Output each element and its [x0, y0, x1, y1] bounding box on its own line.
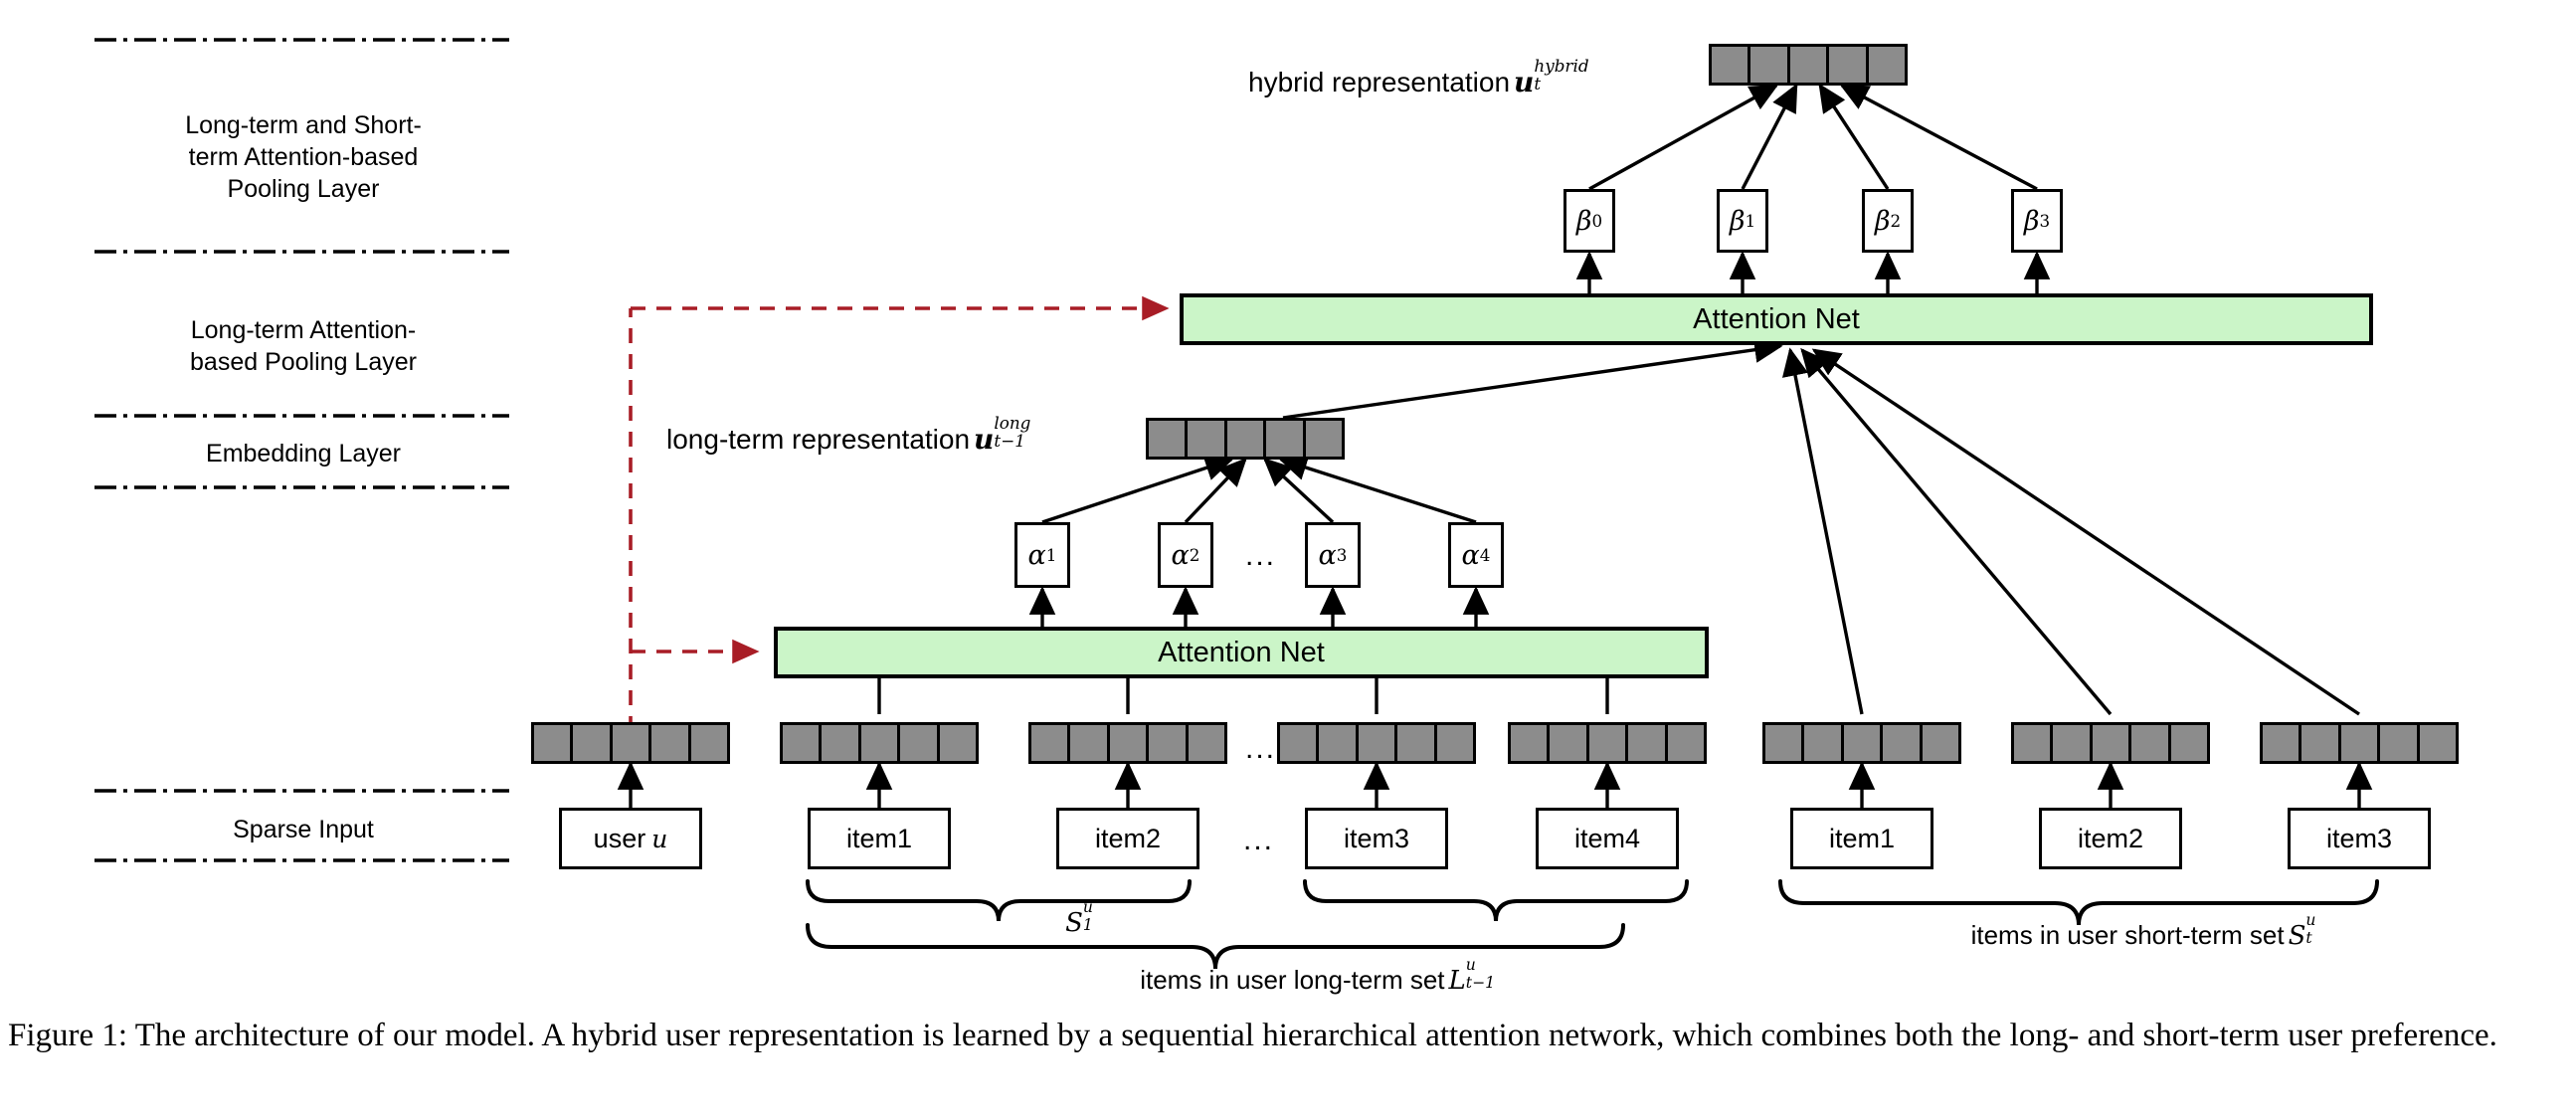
- hybrid-representation-vector: [1709, 44, 1908, 86]
- vector-cell: [1923, 725, 1958, 761]
- beta-box-1: β1: [1717, 189, 1768, 253]
- input-box-long-item2[interactable]: item2: [1056, 808, 1199, 869]
- vector-cell: [1070, 725, 1109, 761]
- embedding-vector-user: [531, 722, 730, 764]
- brace-s1-sup: u: [1083, 898, 1093, 916]
- vector-cell: [1359, 725, 1397, 761]
- vector-cell: [1227, 421, 1266, 457]
- hybrid-math-sub: t: [1534, 74, 1541, 93]
- attention-net-long[interactable]: Attention Net: [774, 627, 1709, 678]
- vector-cell: [2053, 725, 2092, 761]
- alpha-symbol: α: [1462, 540, 1480, 571]
- layer-label-long-short-attention-pooling: Long-term and Short- term Attention-base…: [80, 109, 527, 205]
- long-term-set-sup: u: [1466, 956, 1476, 974]
- input-box-long-item4[interactable]: item4: [1536, 808, 1679, 869]
- vector-cell: [1031, 725, 1070, 761]
- vector-cell: [1149, 725, 1188, 761]
- vector-cell: [1869, 47, 1905, 83]
- embedding-vector-long-item2: [1028, 722, 1227, 764]
- layer-label-embedding: Embedding Layer: [80, 438, 527, 469]
- long-term-set-sub: t−1: [1466, 974, 1495, 992]
- long-term-representation-math: ulongt−1: [974, 423, 994, 456]
- vector-cell: [534, 725, 573, 761]
- vector-cell: [2420, 725, 2456, 761]
- embedding-vector-long-item3: [1277, 722, 1476, 764]
- alpha-box-1: α1: [1014, 522, 1070, 588]
- long-term-set-base: L: [1449, 966, 1466, 996]
- vector-cell: [1149, 421, 1188, 457]
- vector-cell: [1765, 725, 1804, 761]
- brace-s1-sub: 1: [1083, 916, 1093, 934]
- vector-cell: [2171, 725, 2207, 761]
- hybrid-representation-math: uhybridt: [1514, 66, 1534, 98]
- vector-cell: [1628, 725, 1667, 761]
- alpha-box-3: α3: [1305, 522, 1361, 588]
- vector-cell: [1280, 725, 1319, 761]
- vector-cell: [1306, 421, 1342, 457]
- vector-cell: [900, 725, 939, 761]
- long-term-set-text: items in user long-term set: [1140, 965, 1444, 995]
- alpha-symbol: α: [1028, 540, 1046, 571]
- long-term-input-ellipsis: ...: [1243, 824, 1274, 857]
- vector-cell: [1319, 725, 1358, 761]
- beta-symbol: β: [1576, 206, 1592, 237]
- input-box-user[interactable]: useru: [559, 808, 702, 869]
- vector-cell: [1188, 421, 1226, 457]
- vector-cell: [2014, 725, 2053, 761]
- vector-cell: [822, 725, 860, 761]
- alpha-subscript: 1: [1046, 545, 1057, 565]
- vector-cell: [1883, 725, 1922, 761]
- long-term-representation-vector: [1146, 418, 1345, 460]
- vector-cell: [1668, 725, 1704, 761]
- input-box-short-item3[interactable]: item3: [2288, 808, 2431, 869]
- brace-label-s1: Su1: [1012, 907, 1132, 938]
- vector-cell: [1397, 725, 1436, 761]
- alpha-ellipsis: ...: [1245, 539, 1276, 573]
- vector-cell: [1750, 47, 1789, 83]
- vector-cell: [940, 725, 976, 761]
- vector-cell: [1589, 725, 1628, 761]
- vector-cell: [1437, 725, 1473, 761]
- long-math-sup: long: [994, 413, 1030, 433]
- alpha-symbol: α: [1172, 540, 1190, 571]
- alpha-box-4: α4: [1448, 522, 1504, 588]
- hybrid-math-base: u: [1514, 66, 1534, 98]
- vector-cell: [613, 725, 651, 761]
- vector-cell: [2093, 725, 2131, 761]
- short-term-set-text: items in user short-term set: [1971, 920, 2285, 950]
- alpha-symbol: α: [1319, 540, 1337, 571]
- long-term-representation-text: long-term representation: [666, 424, 970, 455]
- vector-cell: [783, 725, 822, 761]
- hybrid-representation-text: hybrid representation: [1248, 67, 1510, 97]
- input-box-short-item2[interactable]: item2: [2039, 808, 2182, 869]
- embedding-vector-short-item3: [2260, 722, 2459, 764]
- embedding-vector-short-item1: [1762, 722, 1961, 764]
- long-term-representation-label: long-term representationulongt−1: [666, 423, 994, 456]
- vector-cell: [1110, 725, 1149, 761]
- alpha-subscript: 3: [1337, 545, 1348, 565]
- vector-cell: [1804, 725, 1843, 761]
- beta-box-2: β2: [1862, 189, 1914, 253]
- input-user-math: u: [651, 825, 667, 853]
- layer-label-sparse-input: Sparse Input: [80, 814, 527, 845]
- beta-subscript: 0: [1591, 211, 1602, 231]
- vector-cell: [2263, 725, 2301, 761]
- input-user-label: user: [594, 824, 646, 854]
- input-box-long-item3[interactable]: item3: [1305, 808, 1448, 869]
- long-term-set-math: Lut−1: [1449, 966, 1466, 996]
- layer-label-long-attention-pooling: Long-term Attention- based Pooling Layer: [80, 314, 527, 378]
- embedding-vector-short-item2: [2011, 722, 2210, 764]
- long-math-sub: t−1: [994, 431, 1024, 451]
- beta-symbol: β: [1875, 206, 1891, 237]
- vector-cell: [2380, 725, 2419, 761]
- figure-caption: Figure 1: The architecture of our model.…: [8, 1013, 2570, 1059]
- vector-cell: [573, 725, 612, 761]
- beta-subscript: 1: [1745, 211, 1755, 231]
- input-box-long-item1[interactable]: item1: [808, 808, 951, 869]
- brace-s1-base: S: [1065, 908, 1083, 938]
- vector-cell: [1266, 421, 1305, 457]
- brace-label-long-term-set: items in user long-term setLut−1: [955, 965, 1651, 996]
- short-term-set-math: Sut: [2289, 921, 2306, 951]
- alpha-box-2: α2: [1158, 522, 1213, 588]
- embedding-vector-long-item4: [1508, 722, 1707, 764]
- attention-net-top[interactable]: Attention Net: [1180, 293, 2373, 345]
- vector-cell: [1790, 47, 1829, 83]
- vector-cell: [1829, 47, 1868, 83]
- vector-cell: [2301, 725, 2340, 761]
- long-math-base: u: [974, 423, 994, 456]
- beta-subscript: 3: [2039, 211, 2050, 231]
- embedding-vector-long-item1: [780, 722, 979, 764]
- vector-cell: [2131, 725, 2170, 761]
- hybrid-math-sup: hybrid: [1534, 56, 1588, 76]
- hybrid-representation-label: hybrid representationuhybridt: [1248, 66, 1534, 98]
- figure-canvas: Long-term and Short- term Attention-base…: [0, 0, 2576, 1120]
- short-term-set-sup: u: [2305, 911, 2315, 929]
- short-term-set-base: S: [2289, 921, 2306, 951]
- vector-cell: [651, 725, 690, 761]
- brace-label-short-term-set: items in user short-term setSut: [1790, 920, 2486, 951]
- vector-cell: [1189, 725, 1224, 761]
- vector-cell: [1511, 725, 1550, 761]
- beta-symbol: β: [1730, 206, 1746, 237]
- beta-box-3: β3: [2011, 189, 2063, 253]
- vector-cell: [1550, 725, 1588, 761]
- vector-cell: [2341, 725, 2380, 761]
- embedding-ellipsis: ...: [1245, 732, 1276, 766]
- input-box-short-item1[interactable]: item1: [1790, 808, 1933, 869]
- beta-symbol: β: [2024, 206, 2040, 237]
- vector-cell: [1844, 725, 1883, 761]
- vector-cell: [861, 725, 900, 761]
- beta-box-0: β0: [1564, 189, 1615, 253]
- vector-cell: [1712, 47, 1750, 83]
- short-term-set-sub: t: [2305, 929, 2311, 947]
- beta-subscript: 2: [1890, 211, 1901, 231]
- brace-s1-math: Su1: [1065, 908, 1083, 938]
- alpha-subscript: 2: [1190, 545, 1200, 565]
- alpha-subscript: 4: [1480, 545, 1491, 565]
- vector-cell: [691, 725, 727, 761]
